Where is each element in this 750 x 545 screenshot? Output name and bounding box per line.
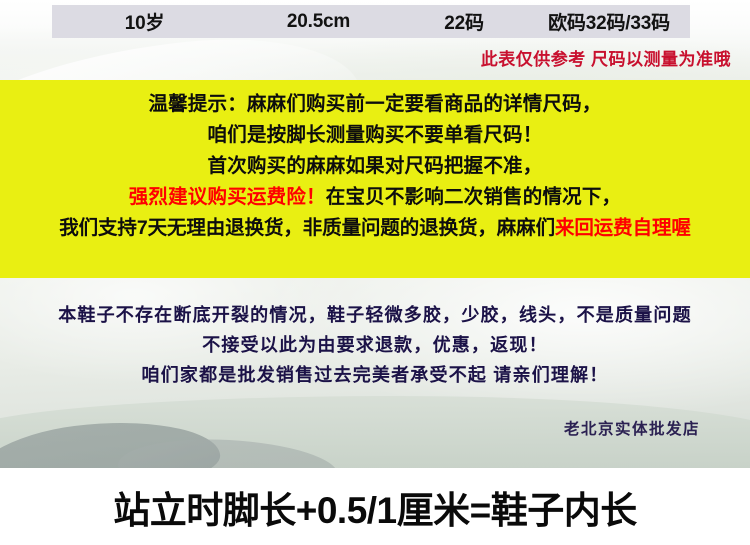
yellow-line4-seg2: 在宝贝不影响二次销售的情况下， (326, 186, 622, 208)
shop-signature: 老北京实体批发店 (0, 417, 700, 439)
size-cell-cn-size: 22码 (400, 8, 528, 35)
yellow-line1-seg1: 温馨提示：麻麻们购买前一定要看商品的详情尺码， (148, 93, 601, 115)
yellow-notice-block: 温馨提示：麻麻们购买前一定要看商品的详情尺码， 咱们是按脚长测量购买不要单看尺码… (0, 80, 750, 278)
size-table-row: 10岁 20.5cm 22码 欧码32码/33码 (52, 5, 690, 38)
bottom-headline-text: 站立时脚长+0.5/1厘米=鞋子内长 (113, 480, 637, 534)
yellow-notice-line-2: 咱们是按脚长测量购买不要单看尺码！ (0, 120, 750, 151)
size-cell-eu-size: 欧码32码/33码 (528, 8, 690, 35)
yellow-line5-seg1: 我们支持7天无理由退换货，非质量问题的退换货，麻麻们 (59, 217, 555, 239)
middle-notice-line-3: 咱们家都是批发销售过去完美者承受不起 请亲们理解！ (0, 360, 750, 390)
yellow-line4-seg1-red: 强烈建议购买运费险！ (129, 186, 326, 208)
yellow-line2-seg1: 咱们是按脚长测量购买不要单看尺码！ (208, 124, 543, 146)
middle-notice-line-1: 本鞋子不存在断底开裂的情况，鞋子轻微多胶，少胶，线头，不是质量问题 (0, 300, 750, 330)
yellow-notice-line-4: 强烈建议购买运费险！在宝贝不影响二次销售的情况下， (0, 182, 750, 213)
size-disclaimer-text: 此表仅供参考 尺码以测量为准哦 (0, 45, 731, 70)
yellow-line3-seg1: 首次购买的麻麻如果对尺码把握不准， (208, 155, 543, 177)
yellow-notice-line-3: 首次购买的麻麻如果对尺码把握不准， (0, 151, 750, 182)
yellow-line5-seg2-red: 来回运费自理喔 (555, 217, 691, 239)
size-cell-age: 10岁 (52, 8, 237, 35)
size-chart-promo-page: 10岁 20.5cm 22码 欧码32码/33码 此表仅供参考 尺码以测量为准哦… (0, 0, 750, 545)
middle-notice-line-2: 不接受以此为由要求退款，优惠，返现！ (0, 330, 750, 360)
middle-notice-block: 本鞋子不存在断底开裂的情况，鞋子轻微多胶，少胶，线头，不是质量问题 不接受以此为… (0, 300, 750, 390)
yellow-notice-line-1: 温馨提示：麻麻们购买前一定要看商品的详情尺码， (0, 89, 750, 120)
yellow-notice-line-5: 我们支持7天无理由退换货，非质量问题的退换货，麻麻们来回运费自理喔 (0, 213, 750, 244)
bottom-headline-band: 站立时脚长+0.5/1厘米=鞋子内长 (0, 468, 750, 545)
size-cell-foot-length: 20.5cm (237, 11, 400, 33)
